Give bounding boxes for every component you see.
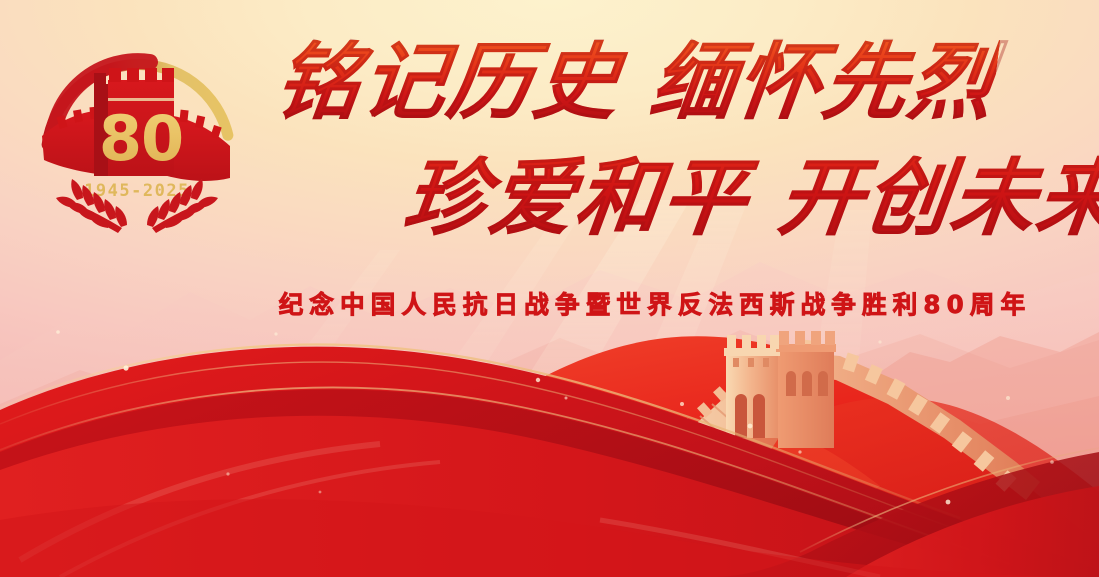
emblem-tower-crenellations — [109, 68, 174, 82]
tower-right-windows — [786, 371, 828, 396]
emblem-number: 80 — [99, 102, 183, 175]
tower-right-block — [778, 348, 834, 448]
80th-anniversary-emblem: 80 1945-2025 — [30, 28, 245, 243]
tower-upper-windows — [733, 358, 769, 367]
emblem-tower-side-crenellations — [94, 73, 106, 86]
commemorative-poster: 80 1945-2025 — [0, 0, 1099, 577]
